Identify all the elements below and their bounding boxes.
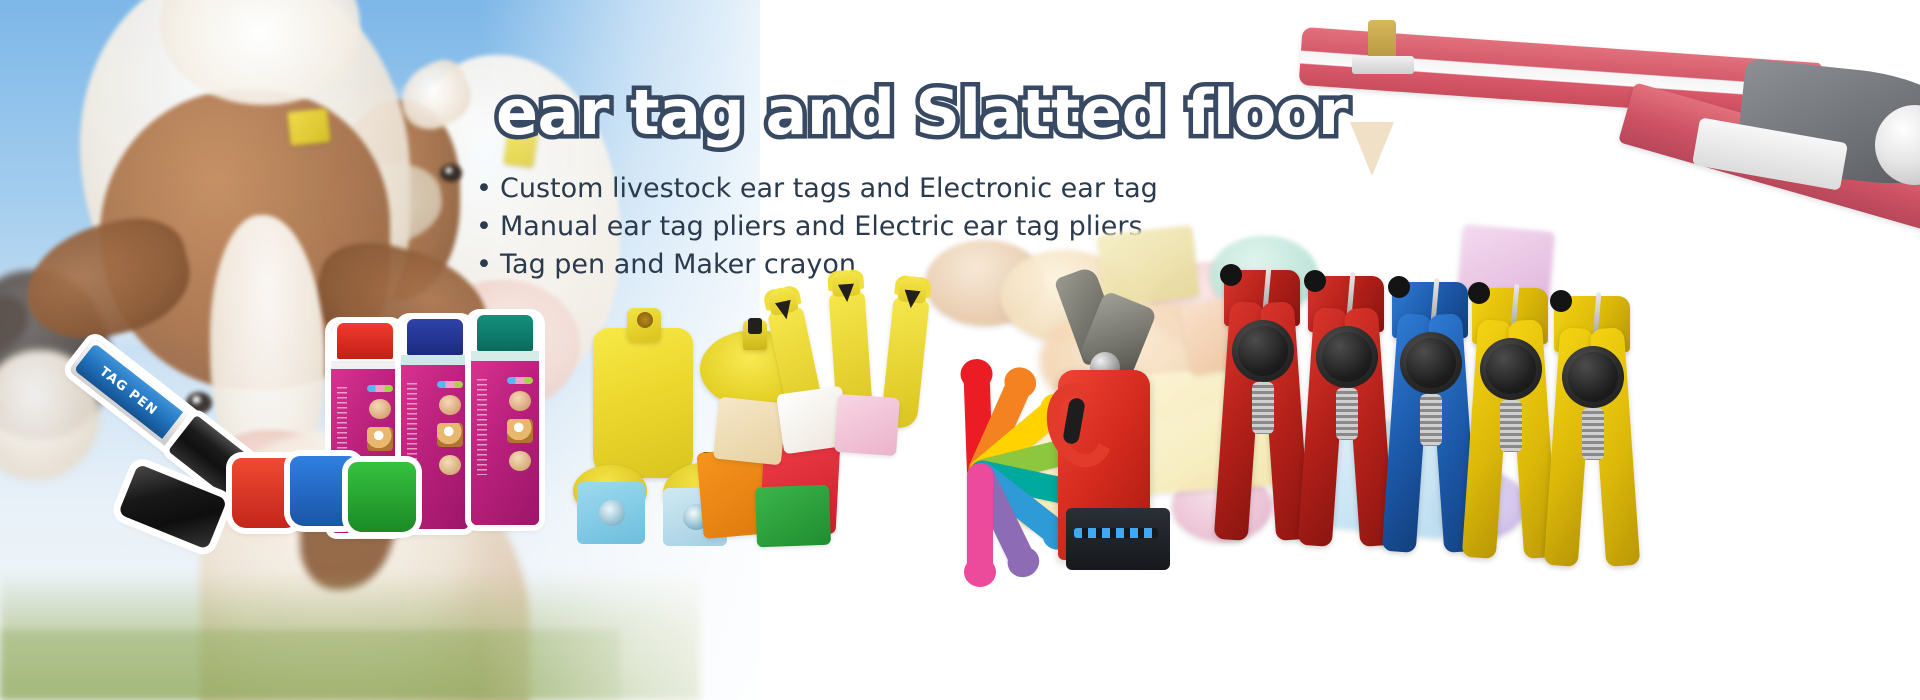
crayon-graphic-1 <box>439 395 461 415</box>
crayon-graphic-2 <box>437 423 463 447</box>
crayon-colour-dots <box>437 381 463 388</box>
plier-spring <box>1336 388 1358 440</box>
feature-list-item: Manual ear tag pliers and Electric ear t… <box>476 208 1158 246</box>
crayon-graphic-1 <box>509 391 531 411</box>
crayon-colour-dots <box>367 385 393 392</box>
feature-list-item: Custom livestock ear tags and Electronic… <box>476 170 1158 208</box>
crayon-graphic-2 <box>367 427 393 451</box>
ear-tag-cone-tip <box>1350 122 1394 176</box>
pink-plier-pin-plate <box>1352 56 1414 74</box>
plier-spring <box>1582 408 1604 460</box>
plier-pin <box>1220 264 1242 286</box>
crayon-graphic-3 <box>439 455 461 475</box>
plier-disc <box>1232 320 1294 382</box>
cow-ear-tag-yellow-1 <box>287 108 330 146</box>
ear-tag-square-blue <box>577 482 645 544</box>
electric-ear-tag-plier <box>1020 270 1210 560</box>
plier-pin <box>1468 282 1490 304</box>
crayon-text-lines <box>477 379 487 475</box>
cow-right-eye <box>440 164 462 182</box>
plier-disc <box>1480 338 1542 400</box>
crayon-graphic-2 <box>507 419 533 443</box>
plier-spring <box>1500 400 1522 452</box>
manual-plier-red-2 <box>1302 276 1390 546</box>
page-title: ear tag and Slatted floor <box>496 82 1348 144</box>
crayon-lid-green <box>348 462 416 532</box>
plier-pin <box>1304 270 1326 292</box>
manual-plier-yellow-1 <box>1466 288 1554 558</box>
ear-tag-square-green <box>755 485 831 548</box>
manual-plier-yellow-2 <box>1548 296 1636 566</box>
crayon-cap-blue <box>407 319 463 355</box>
manual-plier-red-1 <box>1218 270 1306 540</box>
plier-disc <box>1562 346 1624 408</box>
plier-pin <box>1388 276 1410 298</box>
plier-pin <box>1550 290 1572 312</box>
plier-spring <box>1420 394 1442 446</box>
ear-tag-large-yellow <box>593 328 693 478</box>
ear-tag-hole <box>637 312 653 328</box>
crayon-cap-red <box>337 323 393 359</box>
crayon-graphic-3 <box>509 451 531 471</box>
fan-petal-pink <box>967 463 993 583</box>
crayon-cap-teal <box>477 315 533 351</box>
plier-disc <box>1400 332 1462 394</box>
ear-tag-square-cream <box>713 397 787 466</box>
plier-disc <box>1316 326 1378 388</box>
product-banner: ear tag and Slatted floor Custom livesto… <box>0 0 1920 700</box>
manual-plier-blue <box>1386 282 1474 552</box>
crayon-graphic-1 <box>369 399 391 419</box>
ear-tag-square-pink <box>834 394 900 456</box>
electric-plier-battery-leds <box>1074 528 1158 538</box>
plier-spring <box>1252 382 1274 434</box>
marker-crayon-teal <box>471 315 539 525</box>
pink-ear-tag-plier <box>1290 10 1920 260</box>
ear-tag-stud-tip <box>748 318 762 334</box>
electric-plier-battery <box>1066 508 1170 570</box>
crayon-colour-dots <box>507 377 533 384</box>
